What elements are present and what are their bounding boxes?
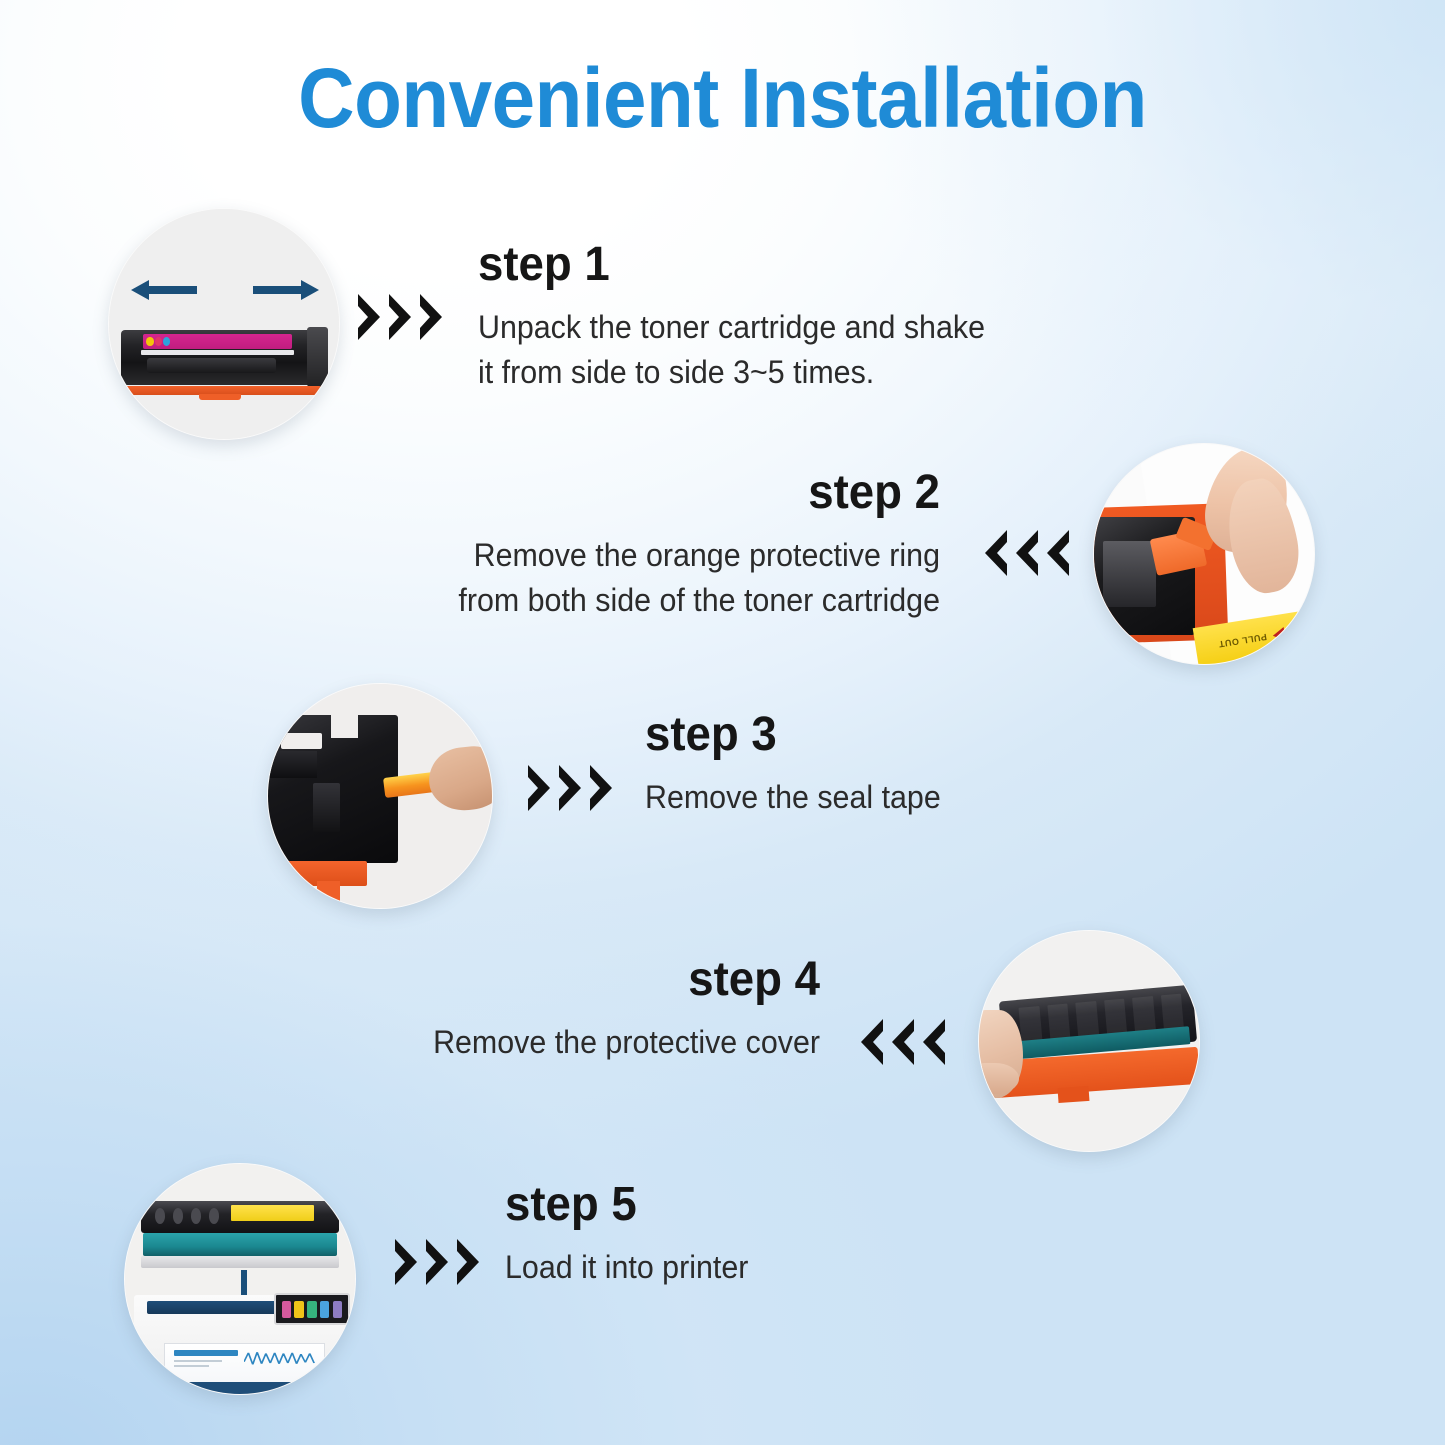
infographic-stage: Convenient Installation [0,0,1445,1445]
step-2-text: step 2 Remove the orange protective ring… [300,468,940,624]
chevron-right-icon [386,292,414,342]
step-1-heading: step 1 [478,240,1086,291]
printer-illustration [134,1295,346,1387]
step-1-text: step 1 Unpack the toner cartridge and sh… [478,240,1118,396]
waveform-graphic [244,1349,317,1368]
chevron-right-icon [392,1237,420,1287]
chevron-left-icon [858,1017,886,1067]
remove-orange-ring-photo: PULL OUT [1094,444,1314,664]
chevron-left-icon [982,528,1010,578]
step-4-chevrons [858,1017,948,1067]
remove-seal-tape-photo [268,684,492,908]
cartridge-illustration [121,324,328,395]
step-1-chevrons [355,292,445,342]
chevron-right-icon [587,763,615,813]
toner-cartridge-shake-photo [109,209,339,439]
chevron-right-icon [355,292,383,342]
chevron-right-icon [423,1237,451,1287]
step-2-heading: step 2 [332,468,940,519]
step-2-body: Remove the orange protective ring from b… [332,533,940,624]
chevron-right-icon [556,763,584,813]
step-4-body: Remove the protective cover [231,1020,820,1065]
pull-out-label-text: PULL OUT [1218,631,1268,649]
step-5-heading: step 5 [505,1180,1075,1231]
step-3-image [267,683,493,909]
page-title: Convenient Installation [51,56,1395,140]
load-into-printer-photo [125,1164,355,1394]
pull-out-arrow-icon [1272,624,1300,642]
shake-right-arrow-icon [251,277,321,303]
step-3-chevrons [525,763,615,813]
chevron-right-icon [417,292,445,342]
chevron-left-icon [889,1017,917,1067]
step-4-image [978,930,1200,1152]
step-5-chevrons [392,1237,482,1287]
step-2-chevrons [982,528,1072,578]
chevron-left-icon [1044,528,1072,578]
step-3-heading: step 3 [645,710,1215,761]
step-3-body: Remove the seal tape [645,775,1215,820]
printer-control-screen [274,1293,350,1324]
chevron-left-icon [920,1017,948,1067]
step-1-body: Unpack the toner cartridge and shake it … [478,305,1086,396]
step-4-heading: step 4 [231,955,820,1006]
step-1-image [108,208,340,440]
step-5-text: step 5 Load it into printer [505,1180,1105,1290]
step-5-body: Load it into printer [505,1245,1075,1290]
chevron-right-icon [525,763,553,813]
shake-left-arrow-icon [129,277,199,303]
step-5-image [124,1163,356,1395]
remove-protective-cover-photo [979,931,1199,1151]
step-3-text: step 3 Remove the seal tape [645,710,1245,820]
chevron-left-icon [1013,528,1041,578]
step-2-image: PULL OUT [1093,443,1315,665]
step-4-text: step 4 Remove the protective cover [200,955,820,1065]
chevron-right-icon [454,1237,482,1287]
